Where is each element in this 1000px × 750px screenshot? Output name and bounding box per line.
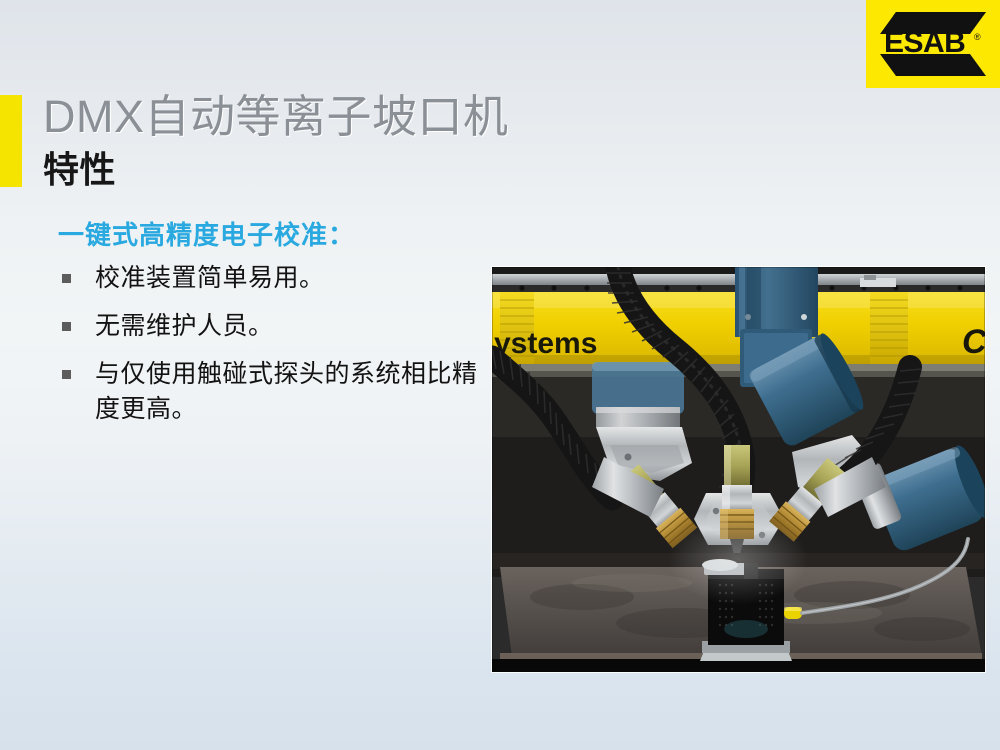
- bullet-square-icon: [62, 322, 71, 331]
- list-item-label: 校准装置简单易用。: [95, 261, 488, 296]
- content-block: 一键式高精度电子校准： 校准装置简单易用。 无需维护人员。 与仅使用触碰式探头的…: [58, 218, 488, 440]
- title-group: DMX自动等离子坡口机 特性: [43, 90, 863, 193]
- list-item: 无需维护人员。: [58, 309, 488, 344]
- registered-mark: ®: [974, 32, 981, 42]
- list-item-label: 与仅使用触碰式探头的系统相比精度更高。: [95, 357, 488, 427]
- list-item: 校准装置简单易用。: [58, 261, 488, 296]
- bullet-square-icon: [62, 274, 71, 283]
- esab-logo: ESAB ®: [866, 0, 1000, 88]
- list-item-label: 无需维护人员。: [95, 309, 488, 344]
- panel-label-right: C: [962, 323, 985, 361]
- feature-heading: 一键式高精度电子校准：: [58, 218, 488, 252]
- list-item: 与仅使用触碰式探头的系统相比精度更高。: [58, 357, 488, 427]
- esab-logo-mark: ESAB ®: [866, 0, 1000, 88]
- panel-label-left: ystems: [494, 327, 597, 360]
- machine-photo: ystems C: [492, 267, 985, 672]
- title-accent-bar: [0, 95, 22, 187]
- esab-wordmark: ESAB: [884, 26, 965, 59]
- page-subtitle: 特性: [43, 147, 863, 193]
- bullet-square-icon: [62, 370, 71, 379]
- machine-photo-illustration: ystems C: [492, 267, 985, 672]
- page-title: DMX自动等离子坡口机: [43, 90, 863, 144]
